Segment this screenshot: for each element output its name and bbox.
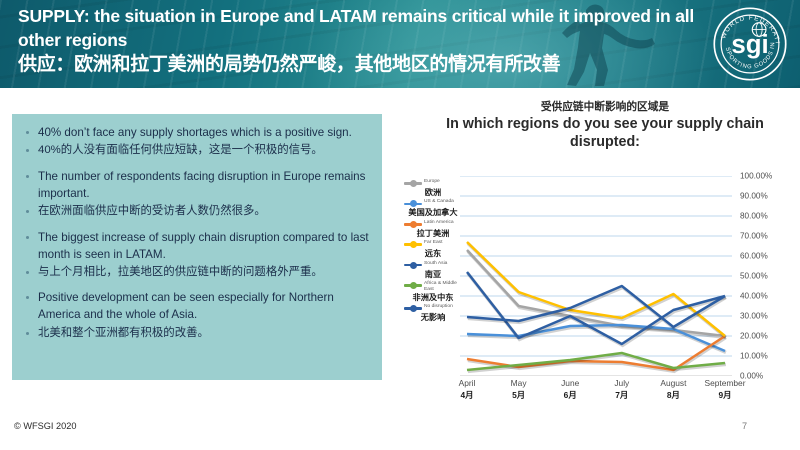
legend-label-english: Far East: [424, 239, 442, 246]
y-axis-tick-label: 90.00%: [740, 192, 768, 201]
x-tick-english: July: [614, 378, 629, 388]
legend-swatch-icon: [404, 304, 422, 313]
y-axis-tick-label: 10.00%: [740, 352, 768, 361]
x-tick-chinese: 5月: [511, 389, 527, 401]
chart-lines-svg: [460, 176, 732, 376]
list-item: 40% don’t face any supply shortages whic…: [20, 124, 370, 141]
list-item: Positive development can be seen especia…: [20, 289, 370, 323]
list-item: The biggest increase of supply chain dis…: [20, 229, 370, 263]
x-axis-tick-label: September9月: [705, 378, 746, 401]
slide-header-banner: SUPPLY: the situation in Europe and LATA…: [0, 0, 800, 88]
legend-label-chinese: 欧洲: [404, 188, 462, 197]
x-axis-tick-label: May5月: [511, 378, 527, 401]
slide-title-english: SUPPLY: the situation in Europe and LATA…: [18, 4, 708, 52]
legend-item-4[interactable]: Far East远东: [404, 239, 462, 258]
x-tick-chinese: 9月: [705, 389, 746, 401]
x-tick-english: April: [459, 378, 476, 388]
chart-title-english: In which regions do you see your supply …: [398, 115, 790, 152]
chart-legend: Europe欧洲US & Canada美国及加拿大Latin America拉丁…: [404, 178, 462, 324]
legend-label-english: Latin America: [424, 219, 454, 226]
legend-swatch-icon: [404, 179, 422, 188]
legend-label-english: Europe: [424, 178, 440, 185]
list-item: 北美和整个亚洲都有积极的改善。: [20, 325, 370, 342]
legend-label-english: No disruption: [424, 303, 453, 310]
legend-swatch-icon: [404, 240, 422, 249]
chart-x-axis: April4月May5月June6月July7月August8月Septembe…: [460, 378, 732, 412]
legend-row: Europe: [404, 178, 462, 188]
legend-item-3[interactable]: Latin America拉丁美洲: [404, 219, 462, 238]
y-axis-tick-label: 40.00%: [740, 292, 768, 301]
legend-row: Far East: [404, 239, 462, 249]
legend-item-1[interactable]: Europe欧洲: [404, 178, 462, 197]
legend-swatch-icon: [404, 281, 422, 290]
bullet-list: 40% don’t face any supply shortages whic…: [12, 114, 382, 341]
legend-label-chinese: 无影响: [404, 313, 462, 322]
legend-item-7[interactable]: No disruption无影响: [404, 303, 462, 322]
legend-item-6[interactable]: Africa & Middle East非洲及中东: [404, 280, 462, 302]
x-axis-tick-label: June6月: [561, 378, 579, 401]
legend-label-chinese: 美国及加拿大: [404, 208, 462, 217]
legend-label-chinese: 非洲及中东: [404, 293, 462, 302]
slide-title-chinese: 供应：欧洲和拉丁美洲的局势仍然严峻，其他地区的情况有所改善: [18, 54, 708, 77]
y-axis-tick-label: 30.00%: [740, 312, 768, 321]
x-tick-chinese: 4月: [459, 389, 476, 401]
legend-item-2[interactable]: US & Canada美国及加拿大: [404, 198, 462, 217]
x-tick-english: May: [511, 378, 527, 388]
legend-row: Africa & Middle East: [404, 280, 462, 293]
legend-swatch-icon: [404, 220, 422, 229]
legend-label-english: US & Canada: [424, 198, 454, 205]
commentary-panel: 40% don’t face any supply shortages whic…: [12, 114, 382, 380]
legend-label-chinese: 南亚: [404, 270, 462, 279]
copyright-notice: © WFSGI 2020: [14, 421, 76, 431]
list-item: 与上个月相比，拉美地区的供应链中断的问题格外严重。: [20, 264, 370, 281]
legend-label-english: South Asia: [424, 260, 447, 267]
legend-item-5[interactable]: South Asia南亚: [404, 260, 462, 279]
logo-wordmark: sgi: [731, 31, 768, 59]
legend-row: Latin America: [404, 219, 462, 229]
y-axis-tick-label: 70.00%: [740, 232, 768, 241]
x-tick-english: September: [705, 378, 746, 388]
y-axis-tick-label: 80.00%: [740, 212, 768, 221]
list-item: The number of respondents facing disrupt…: [20, 168, 370, 202]
x-axis-tick-label: July7月: [614, 378, 629, 401]
chart-plot-region: Europe欧洲US & Canada美国及加拿大Latin America拉丁…: [398, 176, 790, 408]
list-item: 在欧洲面临供应中断的受访者人数仍然很多。: [20, 203, 370, 220]
legend-label-chinese: 拉丁美洲: [404, 229, 462, 238]
chart-title-chinese: 受供应链中断影响的区域是: [398, 99, 790, 114]
x-tick-chinese: 8月: [660, 389, 686, 401]
x-tick-chinese: 6月: [561, 389, 579, 401]
legend-swatch-icon: [404, 199, 422, 208]
y-axis-tick-label: 100.00%: [740, 172, 772, 181]
x-axis-tick-label: April4月: [459, 378, 476, 401]
y-axis-tick-label: 50.00%: [740, 272, 768, 281]
legend-row: No disruption: [404, 303, 462, 313]
chart-y-axis: 100.00%90.00%80.00%70.00%60.00%50.00%40.…: [736, 176, 790, 376]
supply-chain-disruption-chart: 受供应链中断影响的区域是 In which regions do you see…: [398, 96, 790, 408]
list-item: 40%的人没有面临任何供应短缺，这是一个积极的信号。: [20, 142, 370, 159]
y-axis-tick-label: 20.00%: [740, 332, 768, 341]
x-tick-english: August: [660, 378, 686, 388]
page-number: 7: [742, 421, 747, 431]
x-tick-chinese: 7月: [614, 389, 629, 401]
y-axis-tick-label: 60.00%: [740, 252, 768, 261]
x-axis-tick-label: August8月: [660, 378, 686, 401]
x-tick-english: June: [561, 378, 579, 388]
legend-label-english: Africa & Middle East: [424, 280, 462, 293]
wfsgi-logo-icon: WORLD FEDERATION SPORTING GOODS INDUSTRY…: [712, 6, 788, 82]
legend-row: US & Canada: [404, 198, 462, 208]
legend-swatch-icon: [404, 261, 422, 270]
header-text-block: SUPPLY: the situation in Europe and LATA…: [18, 4, 708, 77]
legend-label-chinese: 远东: [404, 249, 462, 258]
legend-row: South Asia: [404, 260, 462, 270]
